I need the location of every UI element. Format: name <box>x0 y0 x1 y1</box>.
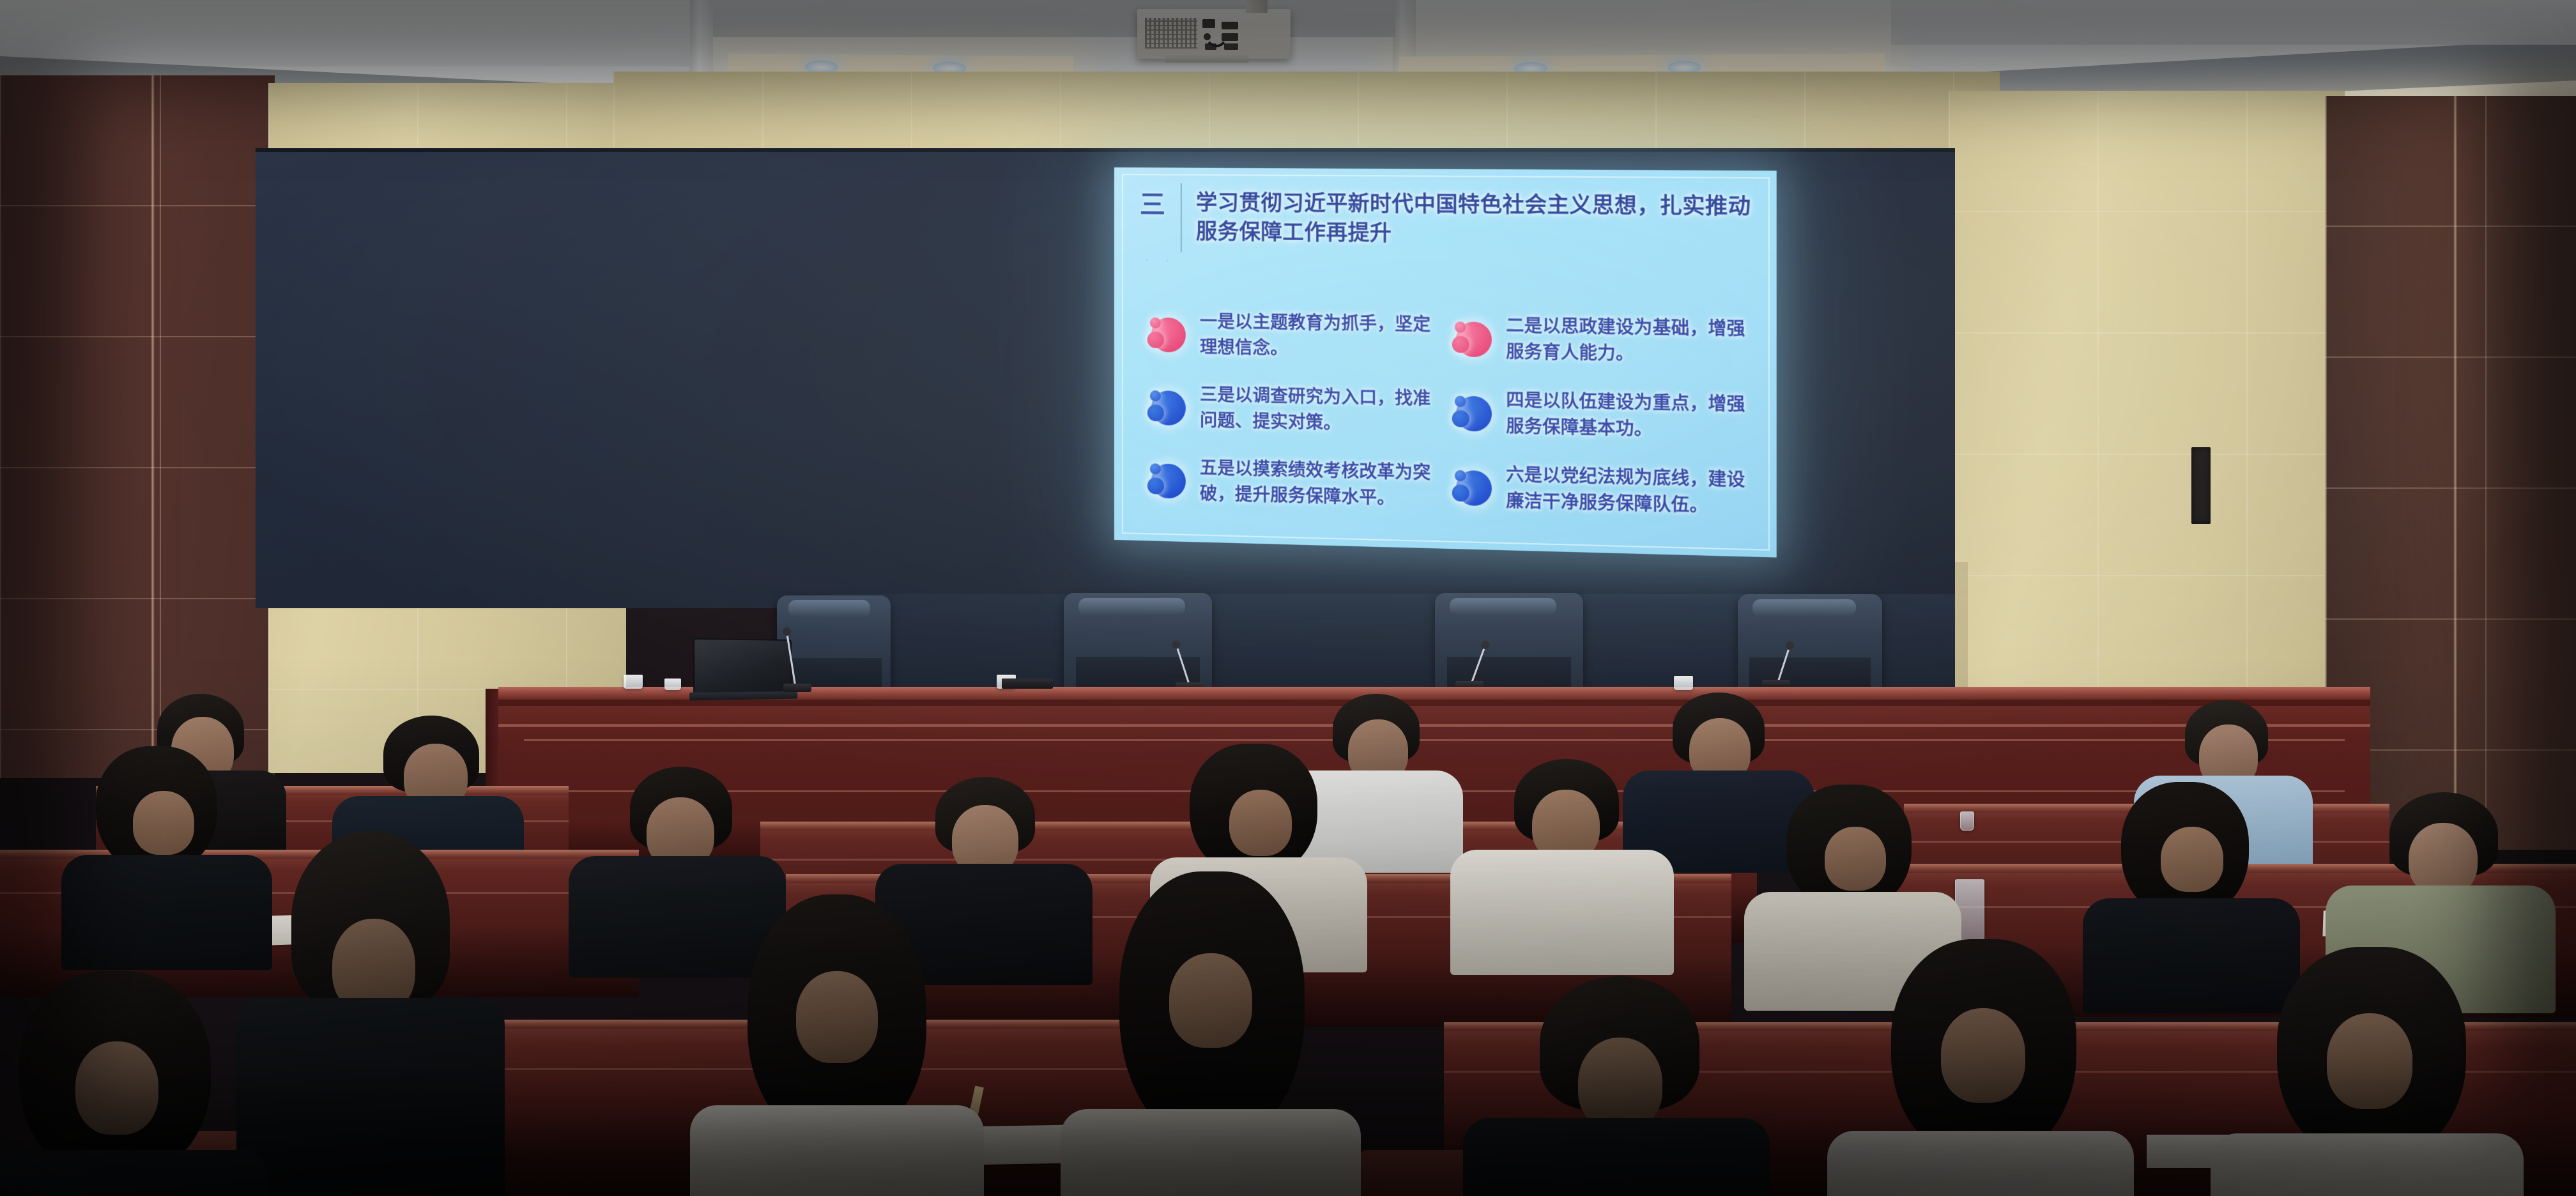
person-head <box>1825 827 1886 891</box>
person-torso <box>1061 1109 1361 1196</box>
wall-panel-dark-left <box>0 75 275 778</box>
person-torso <box>2211 1133 2524 1196</box>
projector-mount-arm <box>1246 0 1268 13</box>
wall-panel-seams <box>0 75 275 778</box>
audience-person <box>690 894 984 1196</box>
slide-bullet-item: 三是以调查研究为入口，找准问题、提实对策。 <box>1145 381 1434 438</box>
projector-lens-hood <box>1165 54 1248 63</box>
conference-hall-scene: 三 学习贯彻习近平新时代中国特色社会主义思想，扎实推动 服务保障工作再提升 一是… <box>0 0 2576 1196</box>
water-glass <box>1960 811 1974 831</box>
bullet-dots-pink-icon <box>1449 319 1496 364</box>
desk-name-plate <box>1002 678 1053 689</box>
projection-screen: 三 学习贯彻习近平新时代中国特色社会主义思想，扎实推动 服务保障工作再提升 一是… <box>1114 167 1777 558</box>
projector-port <box>1224 43 1238 50</box>
presenter-laptop[interactable] <box>693 638 792 694</box>
wall-speaker <box>2191 447 2211 524</box>
person-torso <box>236 998 505 1196</box>
slide-bullet-item: 二是以思政建设为基础，增强服务育人能力。 <box>1449 312 1749 369</box>
person-torso <box>1450 850 1674 975</box>
audience-person <box>1463 976 1770 1196</box>
stage-chair <box>1738 594 1882 690</box>
audience-person <box>1450 759 1674 963</box>
slide-bullet-item: 六是以党纪法规为底线，建设廉洁干净服务保障队伍。 <box>1449 461 1749 520</box>
audience-person <box>0 971 268 1196</box>
slide-title-line-2: 服务保障工作再提升 <box>1196 217 1760 251</box>
paper-cup <box>664 678 681 690</box>
person-torso <box>1827 1131 2134 1196</box>
slide-bullet-text: 一是以主题教育为抓手，坚定理想信念。 <box>1200 309 1434 364</box>
audience-person <box>1827 939 2134 1196</box>
slide-bullet-text: 三是以调查研究为入口，找准问题、提实对策。 <box>1200 382 1434 438</box>
audience-person <box>236 831 505 1196</box>
slide-section-number: 三 <box>1132 192 1173 218</box>
person-head <box>1941 1008 2025 1103</box>
bullet-dots-blue-icon <box>1449 467 1496 512</box>
projector-cable <box>1204 14 1229 47</box>
wall-column-seam <box>2453 96 2457 850</box>
person-head <box>2327 1013 2412 1109</box>
bullet-dots-blue-icon <box>1145 461 1190 505</box>
stage-chair <box>1435 593 1583 690</box>
person-head <box>133 791 194 855</box>
person-head <box>796 971 878 1063</box>
person-head <box>1578 1038 1662 1131</box>
wall-column-seam <box>151 75 155 778</box>
person-torso <box>1463 1118 1770 1196</box>
person-head <box>2161 827 2223 892</box>
slide-bullet-text: 四是以队伍建设为重点，增强服务保障基本功。 <box>1506 388 1749 445</box>
person-head <box>2409 823 2478 896</box>
slide-title-line-1: 学习贯彻习近平新时代中国特色社会主义思想，扎实推动 <box>1196 188 1760 222</box>
person-head <box>1229 790 1292 856</box>
ceiling-coffer-left <box>0 0 716 66</box>
slide-bullet-text: 六是以党纪法规为底线，建设廉洁干净服务保障队伍。 <box>1506 462 1749 520</box>
slide-header: 三 学习贯彻习近平新时代中国特色社会主义思想，扎实推动 服务保障工作再提升 <box>1132 183 1760 258</box>
slide-bullet-item: 一是以主题教育为抓手，坚定理想信念。 <box>1145 309 1434 364</box>
slide-title: 学习贯彻习近平新时代中国特色社会主义思想，扎实推动 服务保障工作再提升 <box>1182 183 1760 258</box>
slide-bullet-grid: 一是以主题教育为抓手，坚定理想信念。 二是以思政建设为基础，增强服务育人能力。 … <box>1145 309 1749 520</box>
slide-bullet-item: 五是以摸索绩效考核改革为突破，提升服务保障水平。 <box>1145 454 1434 512</box>
person-torso <box>690 1105 984 1196</box>
person-head <box>75 1041 158 1135</box>
projector-vent-grille-icon <box>1145 18 1197 49</box>
slide-bullet-text: 五是以摸索绩效考核改革为突破，提升服务保障水平。 <box>1200 456 1434 512</box>
person-head <box>1169 953 1252 1048</box>
slide-section-badge: 三 <box>1132 183 1182 252</box>
person-torso <box>0 1150 268 1196</box>
paper-cup <box>1674 676 1693 690</box>
ceiling-coffer-center <box>713 0 1395 37</box>
ceiling-coffer-right <box>1891 0 2576 45</box>
microphone-base <box>783 684 811 692</box>
bullet-dots-blue-icon <box>1449 393 1496 438</box>
audience-person <box>1061 871 1361 1196</box>
audience-person <box>2211 947 2524 1196</box>
stage-chair <box>1064 593 1212 690</box>
laptop-screen-lid <box>693 638 792 694</box>
bullet-dots-pink-icon <box>1145 315 1190 359</box>
slide-bullet-text: 二是以思政建设为基础，增强服务育人能力。 <box>1506 313 1749 369</box>
bullet-dots-blue-icon <box>1145 388 1190 433</box>
paper-cup <box>624 675 643 689</box>
slide-bullet-item: 四是以队伍建设为重点，增强服务保障基本功。 <box>1449 387 1749 445</box>
